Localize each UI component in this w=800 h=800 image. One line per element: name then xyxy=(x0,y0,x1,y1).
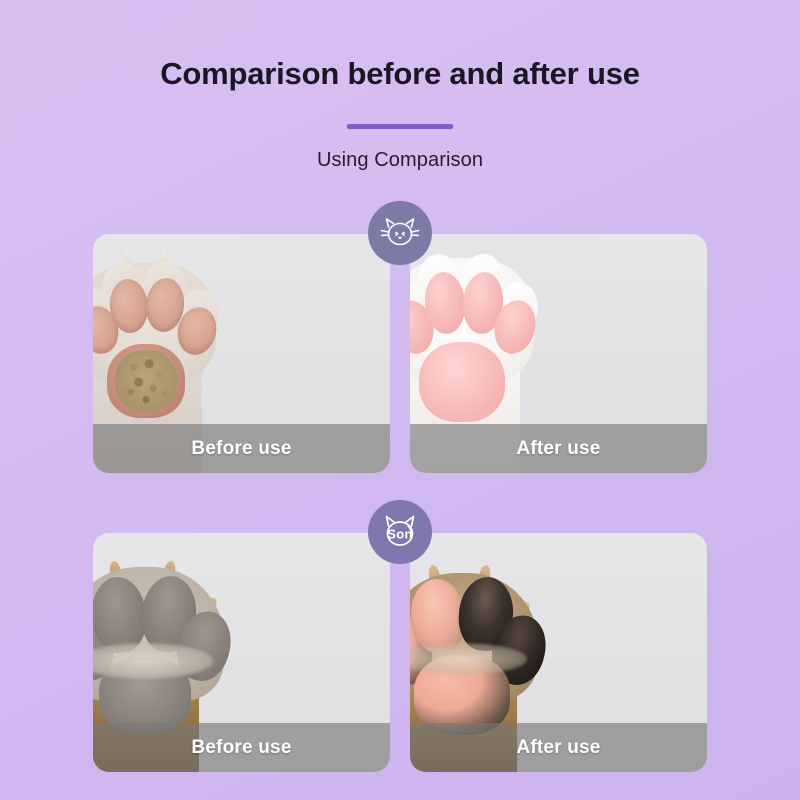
title-divider xyxy=(347,124,453,129)
page-subtitle: Using Comparison xyxy=(0,149,800,172)
card-label-band: After use xyxy=(410,723,707,772)
card-label-band: Before use xyxy=(93,723,390,772)
badge-label: Son xyxy=(368,526,432,541)
compare-card-dog-before[interactable]: Before use xyxy=(93,533,390,772)
card-label: Before use xyxy=(191,438,291,460)
compare-card-cat-after[interactable]: After use xyxy=(410,234,707,473)
card-label-band: Before use xyxy=(93,424,390,473)
comparison-grid: Before use After use xyxy=(93,234,707,772)
comparison-row-cat: Before use After use xyxy=(93,234,707,473)
cat-face-icon xyxy=(368,201,432,265)
card-label: After use xyxy=(516,737,600,759)
dog-face-icon: Son xyxy=(368,500,432,564)
card-label: After use xyxy=(516,438,600,460)
compare-card-dog-after[interactable]: After use xyxy=(410,533,707,772)
card-label: Before use xyxy=(191,737,291,759)
card-label-band: After use xyxy=(410,424,707,473)
page-header: Comparison before and after use Using Co… xyxy=(0,0,800,172)
comparison-row-dog: Son Before use xyxy=(93,533,707,772)
page-title: Comparison before and after use xyxy=(0,57,800,91)
compare-card-cat-before[interactable]: Before use xyxy=(93,234,390,473)
